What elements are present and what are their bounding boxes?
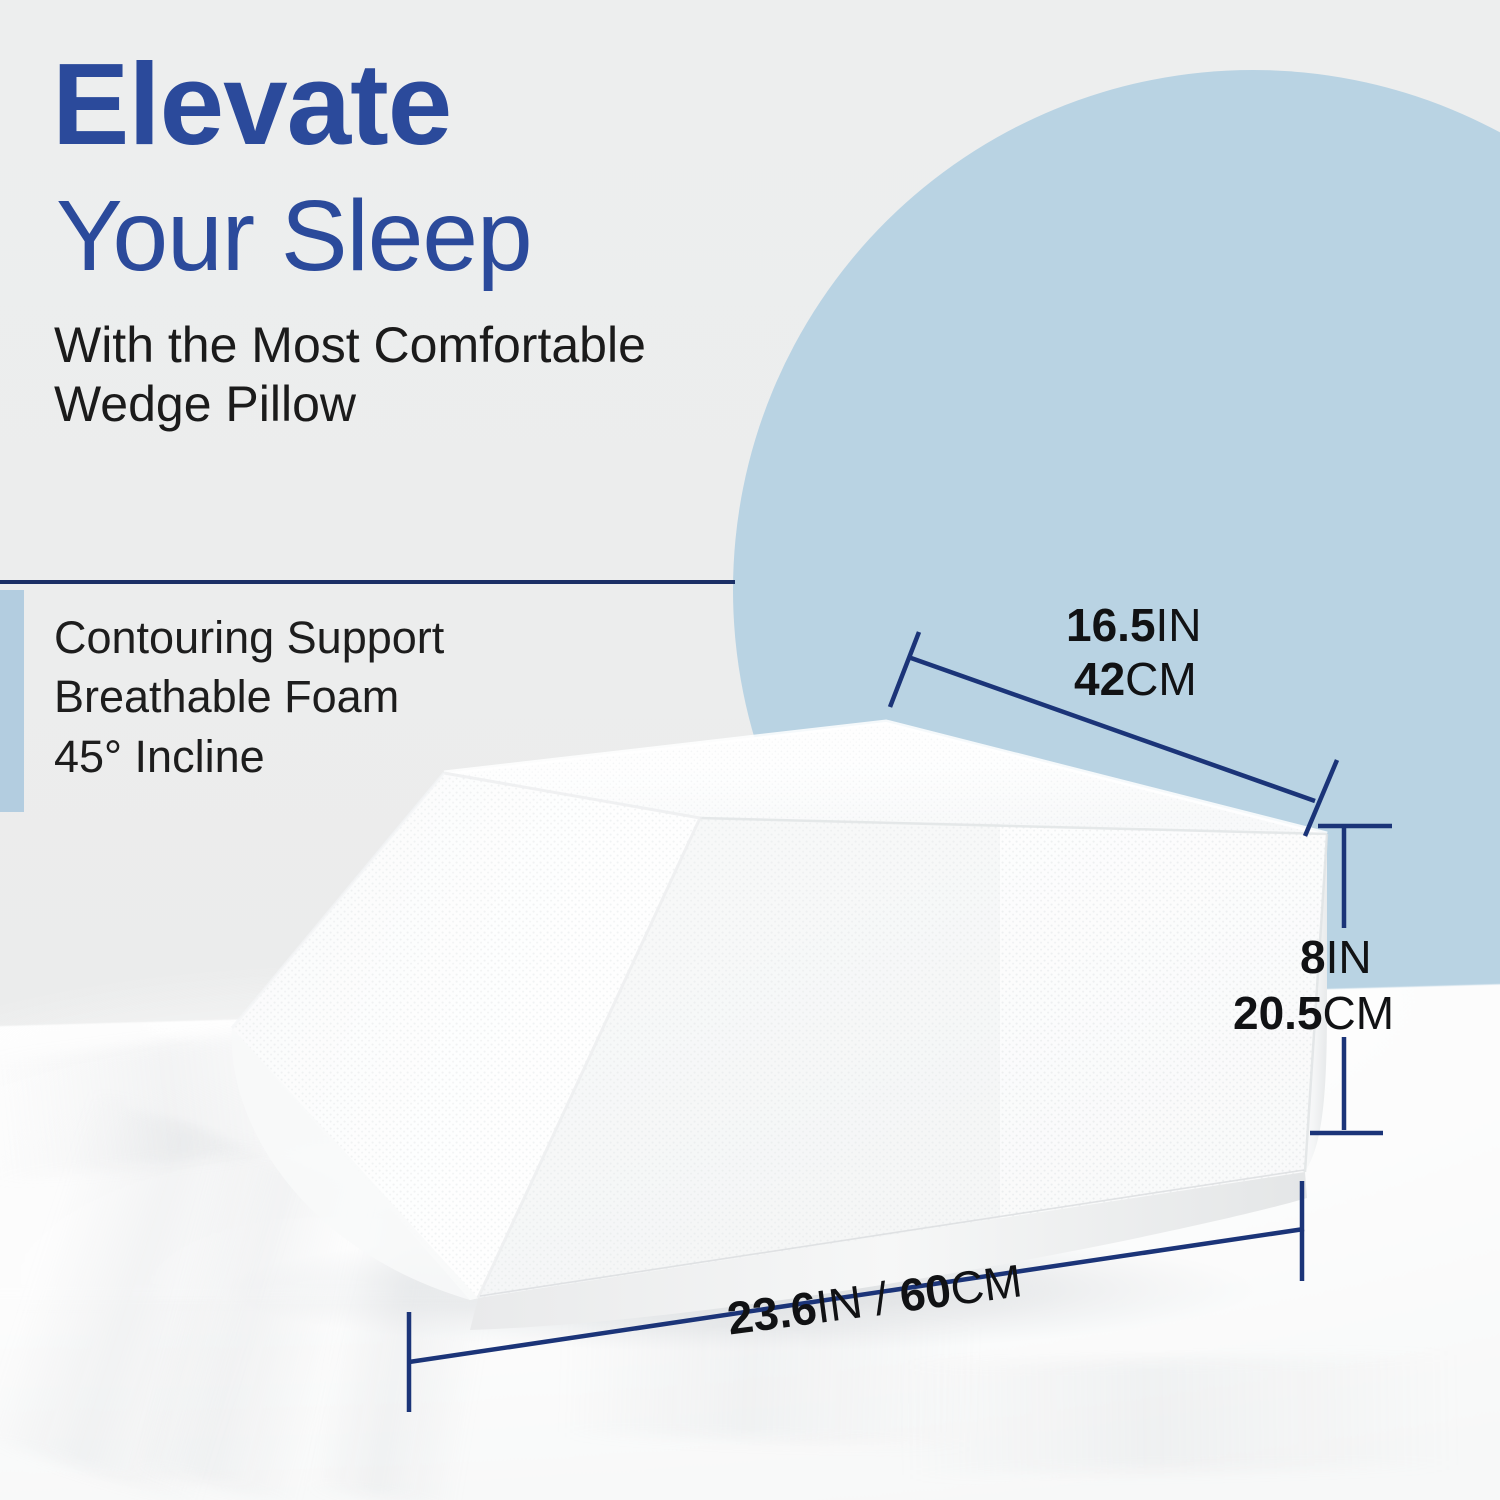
section-divider <box>0 580 735 584</box>
depth-dimension-label-inches: 16.5IN <box>1066 598 1202 652</box>
height-inches-value: 8 <box>1300 931 1326 983</box>
depth-cm-value: 42 <box>1074 653 1125 705</box>
height-cm-value: 20.5 <box>1233 987 1323 1039</box>
feature-list: Contouring Support Breathable Foam 45° I… <box>54 608 444 786</box>
depth-inches-unit: IN <box>1156 599 1202 651</box>
width-inches-unit: IN <box>813 1275 865 1333</box>
depth-dimension-label-cm: 42CM <box>1074 652 1197 706</box>
depth-cm-unit: CM <box>1125 653 1197 705</box>
width-cm-unit: CM <box>947 1254 1025 1315</box>
height-inches-unit: IN <box>1326 931 1372 983</box>
page-title: Elevate <box>52 46 451 162</box>
product-infographic: Elevate Your Sleep With the Most Comfort… <box>0 0 1500 1500</box>
depth-inches-value: 16.5 <box>1066 599 1156 651</box>
height-cm-unit: CM <box>1323 987 1395 1039</box>
height-dimension-label-inches: 8IN <box>1300 930 1372 984</box>
width-inches-value: 23.6 <box>724 1281 820 1344</box>
headline-description: With the Most Comfortable Wedge Pillow <box>54 316 646 433</box>
page-subtitle: Your Sleep <box>56 186 532 286</box>
width-separator: / <box>859 1270 904 1327</box>
width-cm-value: 60 <box>897 1264 955 1322</box>
height-dimension-label-cm: 20.5CM <box>1233 986 1394 1040</box>
left-accent-bar <box>0 590 24 812</box>
